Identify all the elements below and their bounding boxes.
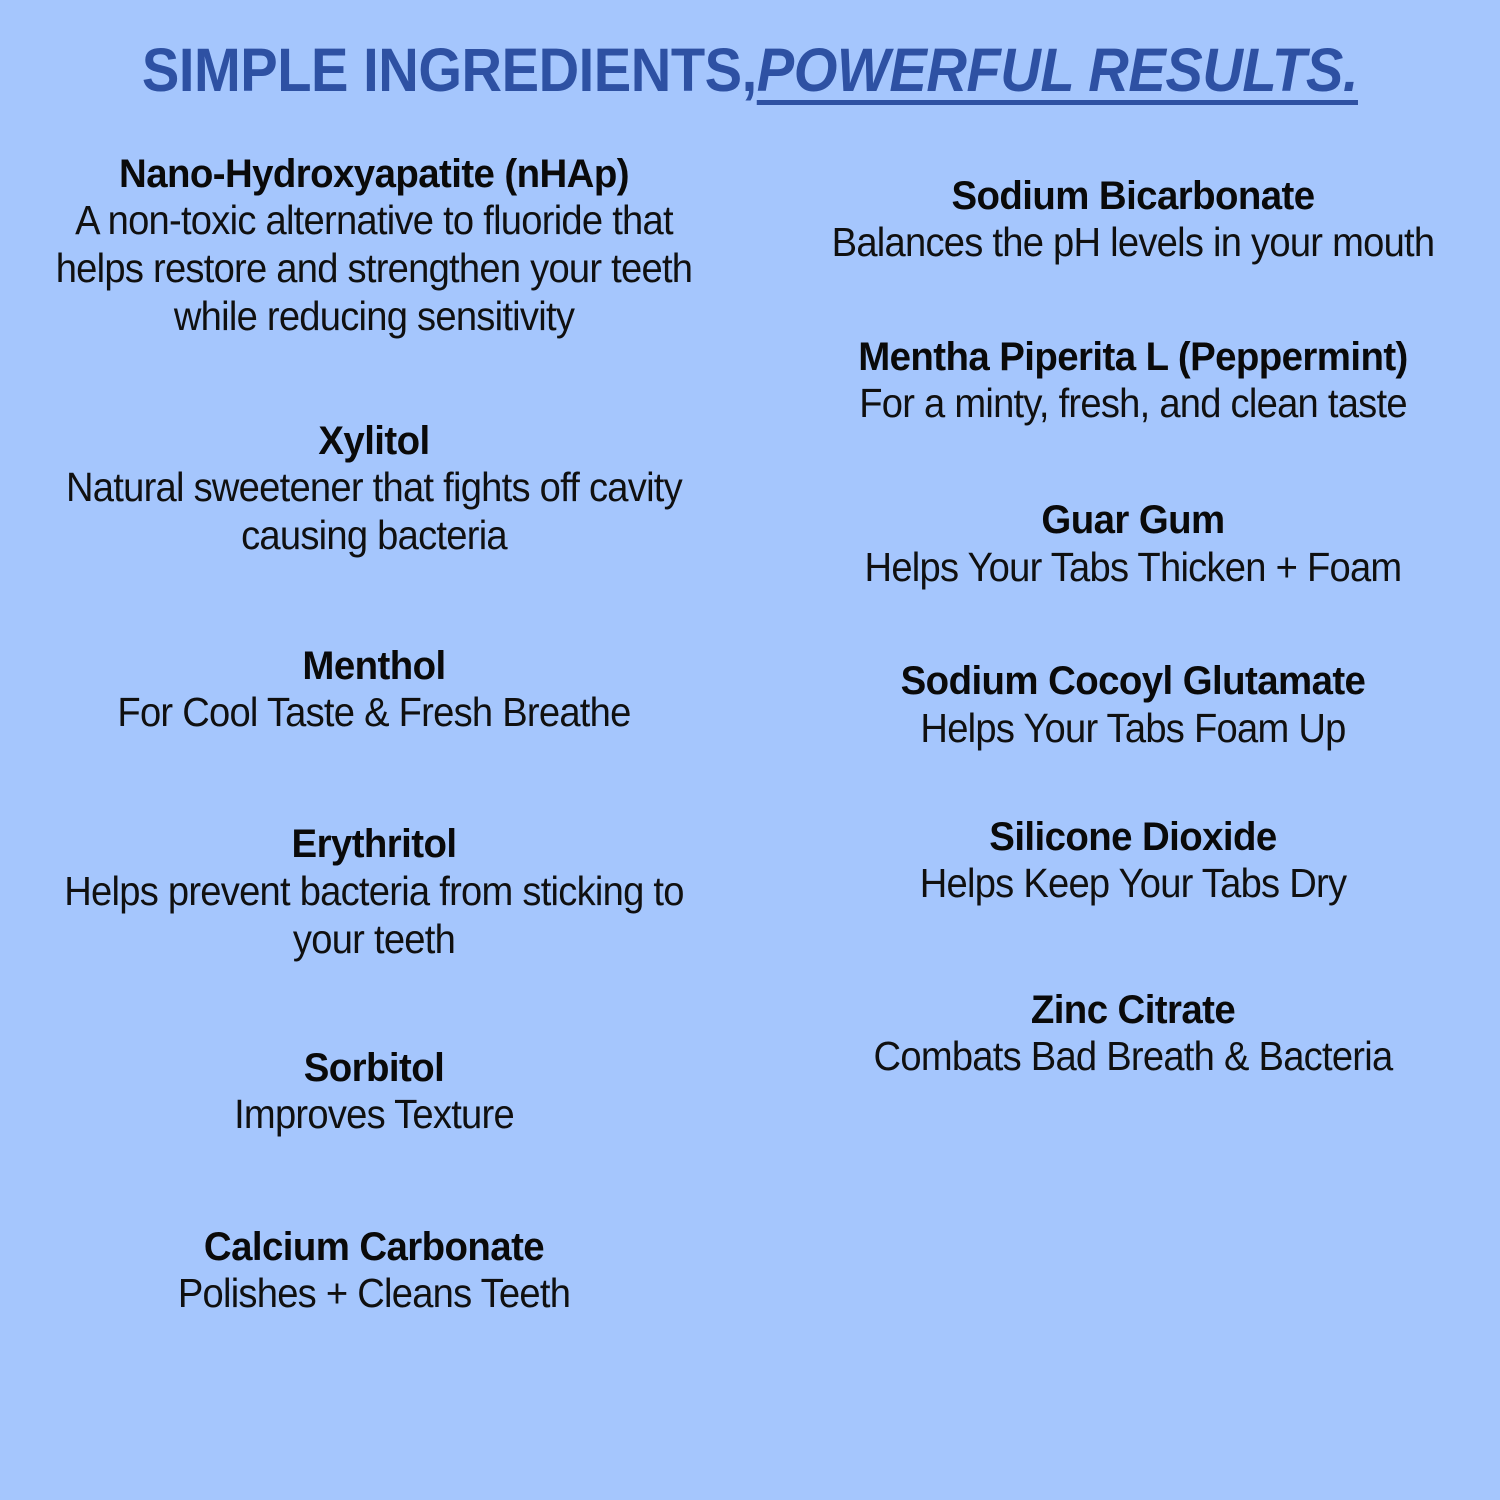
ingredient-item: Sodium Bicarbonate Balances the pH level… <box>776 174 1490 267</box>
ingredient-name: Erythritol <box>19 822 729 867</box>
ingredient-description: Helps Keep Your Tabs Dry <box>801 860 1465 908</box>
ingredient-item: Calcium Carbonate Polishes + Cleans Teet… <box>4 1225 744 1318</box>
ingredient-name: Nano-Hydroxyapatite (nHAp) <box>19 152 729 197</box>
ingredient-item: Sodium Cocoyl Glutamate Helps Your Tabs … <box>776 659 1490 752</box>
ingredient-name: Guar Gum <box>790 498 1475 543</box>
title-segment-emphasis: POWERFUL RESULTS. <box>757 36 1358 104</box>
ingredient-columns: Nano-Hydroxyapatite (nHAp) A non-toxic a… <box>0 152 1500 1472</box>
ingredients-poster: SIMPLE INGREDIENTS,POWERFUL RESULTS. Nan… <box>0 0 1500 1500</box>
ingredient-name: Zinc Citrate <box>790 988 1475 1033</box>
ingredient-description: Natural sweetener that fights off cavity… <box>30 464 718 560</box>
ingredient-description: For Cool Taste & Fresh Breathe <box>30 689 718 737</box>
ingredient-item: Silicone Dioxide Helps Keep Your Tabs Dr… <box>776 815 1490 908</box>
ingredient-item: Xylitol Natural sweetener that fights of… <box>4 419 744 560</box>
ingredient-description: Helps Your Tabs Thicken + Foam <box>801 544 1465 592</box>
ingredient-name: Sodium Bicarbonate <box>790 174 1475 219</box>
ingredient-name: Sodium Cocoyl Glutamate <box>790 659 1475 704</box>
ingredient-description: For a minty, fresh, and clean taste <box>801 380 1465 428</box>
ingredient-description: Combats Bad Breath & Bacteria <box>801 1033 1465 1081</box>
ingredient-description: Balances the pH levels in your mouth <box>801 219 1465 267</box>
ingredient-name: Xylitol <box>19 419 729 464</box>
title-segment-primary: SIMPLE INGREDIENTS, <box>142 36 757 104</box>
ingredient-item: Mentha Piperita L (Peppermint) For a min… <box>776 335 1490 428</box>
ingredient-name: Menthol <box>19 644 729 689</box>
ingredient-column-right: Sodium Bicarbonate Balances the pH level… <box>750 152 1500 1081</box>
ingredient-item: Erythritol Helps prevent bacteria from s… <box>4 822 744 963</box>
page-title: SIMPLE INGREDIENTS,POWERFUL RESULTS. <box>0 38 1500 102</box>
ingredient-name: Calcium Carbonate <box>19 1225 729 1270</box>
ingredient-description: Helps prevent bacteria from sticking to … <box>30 868 718 964</box>
ingredient-description: A non-toxic alternative to fluoride that… <box>30 197 718 341</box>
ingredient-item: Menthol For Cool Taste & Fresh Breathe <box>4 644 744 737</box>
ingredient-item: Nano-Hydroxyapatite (nHAp) A non-toxic a… <box>4 152 744 341</box>
ingredient-item: Guar Gum Helps Your Tabs Thicken + Foam <box>776 498 1490 591</box>
ingredient-name: Mentha Piperita L (Peppermint) <box>790 335 1475 380</box>
ingredient-description: Helps Your Tabs Foam Up <box>801 705 1465 753</box>
ingredient-column-left: Nano-Hydroxyapatite (nHAp) A non-toxic a… <box>0 152 750 1318</box>
ingredient-name: Silicone Dioxide <box>790 815 1475 860</box>
title-text: SIMPLE INGREDIENTS,POWERFUL RESULTS. <box>142 38 1358 102</box>
ingredient-item: Sorbitol Improves Texture <box>4 1046 744 1139</box>
ingredient-item: Zinc Citrate Combats Bad Breath & Bacter… <box>776 988 1490 1081</box>
ingredient-name: Sorbitol <box>19 1046 729 1091</box>
ingredient-description: Polishes + Cleans Teeth <box>30 1270 718 1318</box>
ingredient-description: Improves Texture <box>30 1091 718 1139</box>
